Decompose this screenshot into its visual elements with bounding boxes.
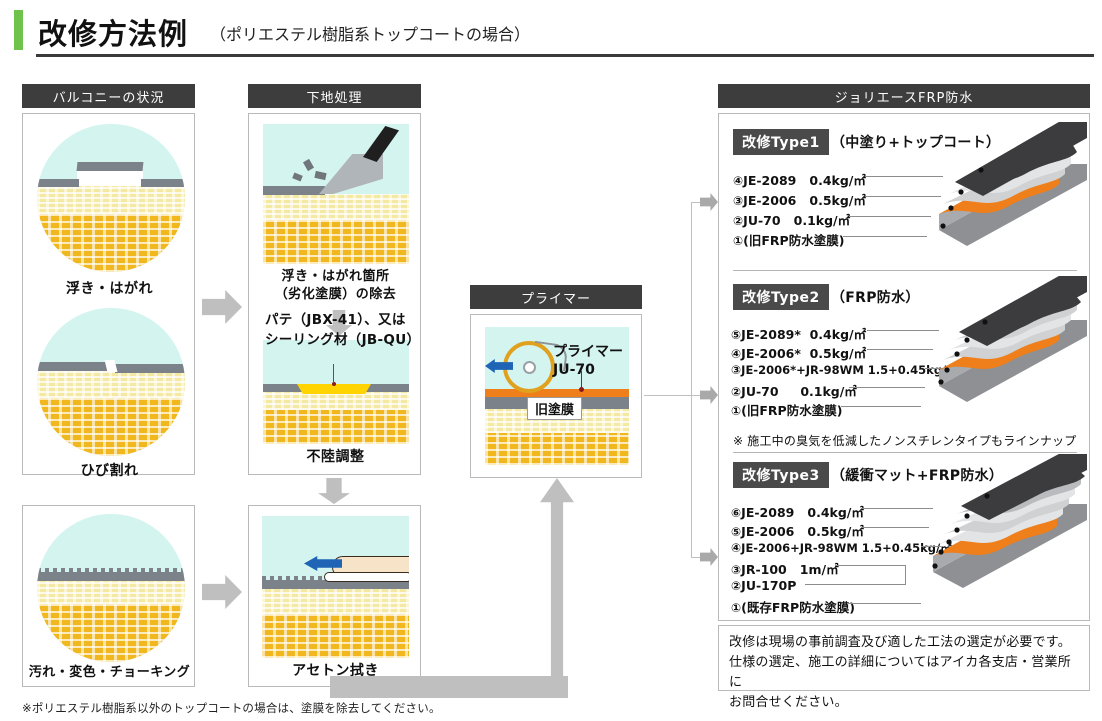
spec-number: ① xyxy=(731,404,741,418)
illustration-crack xyxy=(37,308,185,456)
spec-amount: 0.4kg/㎡ xyxy=(809,173,865,188)
spec-amount: 0.5kg/㎡ xyxy=(809,193,865,208)
spec-amount: 0.5kg/㎡ xyxy=(810,346,866,361)
closing-note-box: 改修は現場の事前調査及び適した工法の選定が必要です。 仕様の選定、施工の詳細につ… xyxy=(718,625,1090,691)
caption-chalking: 汚れ・変色・チョーキング xyxy=(23,664,196,682)
spec-type3-6: ⑥JE-2089 0.4kg/㎡ xyxy=(731,502,864,521)
header-balcony: バルコニーの状況 xyxy=(22,84,195,108)
chalking-texture xyxy=(37,568,185,572)
divider-type1-type2 xyxy=(733,270,1077,271)
spec-name: JR-100 xyxy=(741,562,787,577)
page-title: 改修方法例 xyxy=(38,11,188,53)
spec-name: JE-2006*+JR-98WM xyxy=(741,363,864,377)
badge-type3: 改修Type3 xyxy=(733,462,829,488)
spec-type2-4: ④JE-2006* 0.5kg/㎡ xyxy=(731,343,866,362)
arrow-to-type3 xyxy=(700,548,718,566)
note-type2: （FRP防水） xyxy=(831,287,920,307)
header-substrate: 下地処理 xyxy=(248,84,421,108)
caption-delamination: 浮き・はがれ xyxy=(23,280,196,299)
panel-substrate-lower: アセトン拭き xyxy=(248,505,421,687)
spec-number: ② xyxy=(731,385,741,399)
leader-line xyxy=(333,364,334,383)
spec-name: JU-70 xyxy=(743,213,780,228)
spec-name: (旧FRP防水塗膜) xyxy=(741,403,842,418)
spec-type2-2: ②JU-70 0.1kg/㎡ xyxy=(731,381,857,400)
spec-name: JE-2006 xyxy=(741,524,794,539)
leader-type3-3 xyxy=(835,565,905,566)
arrow-balcony-to-substrate-lower xyxy=(202,575,242,609)
diagram-page: 改修方法例 （ポリエステル樹脂系トップコートの場合） バルコニーの状況 浮き・は… xyxy=(0,0,1102,721)
cloth-shape xyxy=(324,572,409,582)
spec-type2-5: ⑤JE-2089* 0.4kg/㎡ xyxy=(731,324,866,343)
spec-type1-4: ④JE-2089 0.4kg/㎡ xyxy=(733,170,866,189)
tag-old-coating: 旧塗膜 xyxy=(527,397,582,420)
spec-number: ⑤ xyxy=(731,328,741,342)
illustration-chalking xyxy=(37,514,185,662)
caption-crack: ひび割れ xyxy=(23,462,196,481)
leader-dot xyxy=(579,387,584,392)
arrow-balcony-to-substrate-upper xyxy=(202,290,242,324)
spec-number: ④ xyxy=(733,174,743,188)
branch-spine-vertical xyxy=(691,202,692,557)
header-frp: ジョリエースFRP防水 xyxy=(718,84,1090,108)
spec-type2-1: ①(旧FRP防水塗膜) xyxy=(731,400,842,419)
slab-illustration-type3 xyxy=(905,454,1089,604)
page-title-block: 改修方法例 （ポリエステル樹脂系トップコートの場合） xyxy=(14,8,1088,60)
spec-type1-2: ②JU-70 0.1kg/㎡ xyxy=(733,210,850,229)
caption-leveling: 不陸調整 xyxy=(249,448,422,467)
arrow-to-type1 xyxy=(700,193,718,211)
spec-amount: 0.4kg/㎡ xyxy=(807,505,863,520)
arrow-substrate-upper-to-lower xyxy=(318,478,350,504)
spec-name: JU-70 xyxy=(741,384,778,399)
spec-number: ⑤ xyxy=(731,525,741,539)
primer-coat-layer xyxy=(485,389,629,397)
spec-number: ③ xyxy=(733,194,743,208)
spec-name: JU-170P xyxy=(741,578,796,593)
spec-name: (旧FRP防水塗膜) xyxy=(743,233,844,248)
spec-name: (既存FRP防水塗膜) xyxy=(741,600,855,615)
arrow-to-type2 xyxy=(700,386,718,404)
footnote-type2: ※ 施工中の臭気を低減したノンスチレンタイプもラインナップ xyxy=(733,432,1076,449)
arrow-up-to-primer xyxy=(540,478,574,680)
spec-number: ② xyxy=(733,214,743,228)
coating-flake xyxy=(77,162,144,171)
panel-substrate-upper: 浮き・はがれ箇所 （劣化塗膜）の除去 パテ（JBX-41）、又は シーリング材（… xyxy=(248,113,421,475)
page-footnote: ※ポリエステル樹脂系以外のトップコートの場合は、塗膜を除去してください。 xyxy=(22,700,441,716)
panel-frp: 改修Type1 （中塗り+トップコート） ④JE-2089 0.4kg/㎡ ③J… xyxy=(718,113,1090,621)
divider-type2-type3 xyxy=(733,452,1077,453)
callout-putty: パテ（JBX-41）、又は シーリング材（JB-QU） xyxy=(265,310,415,351)
spec-type3-1: ①(既存FRP防水塗膜) xyxy=(731,597,855,616)
spec-number: ① xyxy=(733,234,743,248)
spec-number: ① xyxy=(731,601,741,615)
branch-trunk-horizontal xyxy=(644,395,692,396)
leader-type3-2 xyxy=(805,584,905,585)
spec-name: JE-2089 xyxy=(741,505,794,520)
illustration-delamination xyxy=(37,124,185,272)
spec-amount: 0.1kg/㎡ xyxy=(794,213,850,228)
illustration-leveling xyxy=(263,340,409,444)
slab-illustration-type2 xyxy=(909,274,1089,416)
header-primer: プライマー xyxy=(470,285,642,309)
slab-illustration-type1 xyxy=(909,118,1089,260)
badge-type2: 改修Type2 xyxy=(733,284,829,310)
spec-type3-2: ②JU-170P xyxy=(731,578,796,593)
caption-removal: 浮き・はがれ箇所 （劣化塗膜）の除去 xyxy=(249,268,422,303)
spec-type1-1: ①(旧FRP防水塗膜) xyxy=(733,230,844,249)
spec-name: JE-2006+JR-98WM xyxy=(741,541,858,555)
spec-amount: 0.5kg/㎡ xyxy=(807,524,863,539)
spec-name: JE-2089* xyxy=(741,327,801,342)
spec-amount: 1m/㎡ xyxy=(800,562,839,577)
illustration-scraping xyxy=(263,124,409,264)
spec-number: ③ xyxy=(731,563,741,577)
badge-type1: 改修Type1 xyxy=(733,129,829,155)
panel-primer: 旧塗膜 プライマー JU-70 xyxy=(470,314,642,478)
spec-number: ② xyxy=(731,579,741,593)
illustration-acetone-wipe xyxy=(262,516,409,658)
spec-name: JE-2089 xyxy=(743,173,796,188)
panel-balcony-lower: 汚れ・変色・チョーキング xyxy=(22,505,195,687)
spec-number: ④ xyxy=(731,541,741,555)
spec-name: JE-2006 xyxy=(743,193,796,208)
page-subtitle: （ポリエステル樹脂系トップコートの場合） xyxy=(210,21,530,45)
spec-number: ⑥ xyxy=(731,506,741,520)
title-accent-bar xyxy=(14,10,23,50)
spec-number: ③ xyxy=(731,363,741,377)
title-underline xyxy=(36,54,1094,57)
spec-type3-3: ③JR-100 1m/㎡ xyxy=(731,559,839,578)
spec-amount: 0.4kg/㎡ xyxy=(810,327,866,342)
spec-name: JE-2006* xyxy=(741,346,801,361)
spec-number: ④ xyxy=(731,347,741,361)
spec-type3-5: ⑤JE-2006 0.5kg/㎡ xyxy=(731,521,864,540)
connector-run-to-primer xyxy=(330,676,568,698)
label-primer-product: プライマー JU-70 xyxy=(553,343,623,379)
spec-type1-3: ③JE-2006 0.5kg/㎡ xyxy=(733,190,866,209)
panel-balcony-upper: 浮き・はがれ ひび割れ xyxy=(22,113,195,475)
